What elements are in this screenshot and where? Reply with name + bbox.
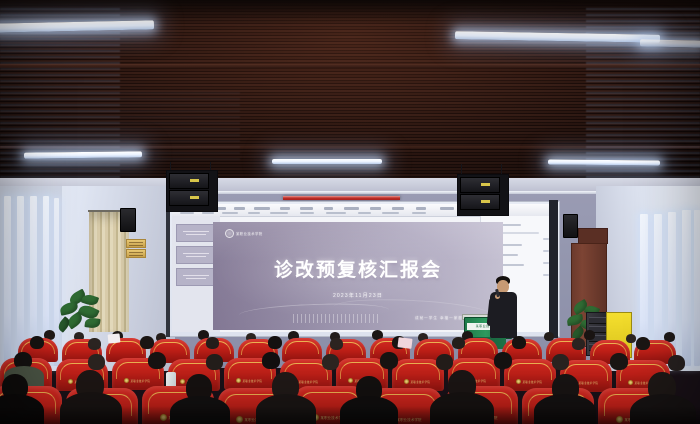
chair-badge-icon — [180, 379, 185, 384]
chair-badge-icon — [236, 378, 241, 383]
audience-head — [206, 354, 223, 370]
ribbon-icon[interactable] — [280, 207, 290, 210]
line-array-speaker — [460, 194, 500, 210]
wall-sign-fire — [126, 249, 146, 258]
audience-head — [30, 336, 44, 349]
chair-emblem: 某职业技术学院 — [516, 379, 542, 384]
chair-trim — [461, 341, 495, 354]
slide-date: 2023年11月23日 — [213, 292, 503, 299]
chair-trim — [109, 341, 143, 354]
audience-head — [668, 355, 685, 371]
chair-emblem-label: 某职业技术学院 — [131, 379, 151, 383]
ribbon-label — [382, 212, 399, 214]
ceiling-light-tube — [24, 151, 142, 158]
slide-thumbnail-1[interactable] — [176, 224, 216, 242]
audience-head — [452, 337, 465, 349]
line-array-speaker — [169, 190, 209, 206]
chair-emblem-label: 某职业技术学院 — [579, 381, 599, 385]
ribbon-label — [300, 212, 314, 214]
speaker-label — [481, 200, 490, 203]
audience-head — [88, 354, 105, 370]
ribbon-label — [202, 212, 214, 214]
audience-head — [494, 352, 512, 369]
banner-highlight — [283, 196, 400, 198]
door-transom — [578, 228, 608, 244]
handout-paper — [397, 337, 412, 349]
chair-emblem-label: 某职业技术学院 — [523, 380, 543, 384]
ribbon-icon[interactable] — [254, 207, 270, 210]
audience-head — [572, 338, 585, 350]
ribbon-label — [180, 212, 194, 214]
wall-sign-exit — [126, 239, 146, 248]
chair-trim — [285, 341, 319, 354]
thumbnail-text-line — [186, 234, 206, 235]
audience-head — [436, 354, 453, 370]
ribbon-label — [412, 212, 426, 214]
speaker-label — [481, 183, 490, 186]
thumbnail-text-line — [186, 256, 206, 257]
chair-emblem: 某职业技术学院 — [124, 378, 150, 383]
wall-speaker-left — [120, 208, 136, 232]
slide-slogan: 成就一学生 幸福一家庭 — [415, 316, 463, 321]
audience-head — [636, 337, 650, 350]
audience-head — [88, 338, 101, 350]
ribbon-icon[interactable] — [416, 207, 426, 210]
chair-emblem: 某职业技术学院 — [404, 379, 430, 384]
line-array-speaker — [460, 177, 500, 193]
conference-hall-scene: 某职业技术学院 诊改预复核汇报会 2023年11月23日 成就一学生 幸福一家庭 — [0, 0, 700, 424]
audience-head — [322, 354, 339, 370]
slatted-ceiling — [0, 0, 700, 186]
ribbon-icon[interactable] — [370, 207, 381, 210]
handout-paper — [108, 333, 121, 343]
audience-head — [380, 352, 398, 369]
thumbnail-text-line — [186, 278, 206, 279]
thumbnail-text-line — [183, 231, 209, 232]
line-array-speaker — [169, 173, 209, 189]
chair-emblem: 某职业技术学院 — [236, 378, 262, 383]
chair-badge-icon — [348, 378, 353, 383]
audience-head — [552, 354, 569, 370]
slide-thumbnail-2[interactable] — [176, 246, 216, 264]
rack-drawer — [589, 317, 607, 324]
slide-org-name: 某职业技术学院 — [236, 231, 263, 236]
audience-seating: 某职业技术学院 某职业技术学院 某职业技术学院 某职业技术学院 — [0, 330, 700, 424]
auditorium-chair: 某职业技术学院 — [504, 359, 556, 391]
slide-thumbnail-3[interactable] — [176, 268, 216, 286]
chair-trim — [508, 363, 552, 379]
screen-bezel-left — [166, 199, 170, 337]
thumbnail-text-line — [183, 253, 209, 254]
speaker-label — [190, 196, 199, 199]
audience-head — [330, 338, 343, 350]
plant-leaf — [84, 317, 100, 329]
projected-slide: 某职业技术学院 诊改预复核汇报会 2023年11月23日 成就一学生 幸福一家庭 — [213, 222, 503, 330]
slide-decoration-hatch — [293, 314, 379, 323]
audience-head — [584, 330, 595, 340]
speaker-label — [190, 179, 199, 182]
ribbon-label — [248, 212, 260, 214]
audience-head — [610, 353, 628, 370]
slide-title: 诊改预复核汇报会 — [213, 255, 503, 282]
audience-head — [512, 336, 526, 349]
slide-org-logo: 某职业技术学院 — [225, 229, 263, 238]
chair-trim — [417, 342, 451, 355]
audience-head — [206, 337, 219, 349]
ribbon-icon[interactable] — [234, 207, 245, 210]
chair-emblem-label: 某职业技术学院 — [243, 379, 263, 383]
institution-seal-icon — [225, 229, 234, 238]
audience-head — [148, 352, 166, 369]
ceiling-light-tube — [272, 159, 382, 164]
chair-badge-icon — [404, 379, 409, 384]
audience-head — [626, 334, 636, 343]
ribbon-icon[interactable] — [300, 207, 313, 210]
ribbon-label — [358, 212, 371, 214]
ceiling-light-tube — [548, 160, 660, 166]
ribbon-icon[interactable] — [324, 207, 333, 210]
ribbon-label — [326, 212, 346, 214]
chair-badge-icon — [516, 379, 521, 384]
chair-badge-icon — [628, 380, 633, 385]
ribbon-label — [222, 212, 238, 214]
chair-emblem-label: 某职业技术学院 — [299, 380, 319, 384]
ceiling-light-tube — [640, 39, 700, 47]
chair-trim — [396, 363, 440, 379]
ribbon-label — [270, 212, 288, 214]
screen-bezel-right — [549, 200, 558, 338]
chair-badge-icon — [68, 379, 73, 384]
thumbnail-text-line — [183, 275, 209, 276]
ribbon-icon[interactable] — [440, 207, 454, 210]
audience-head — [268, 336, 282, 349]
chair-emblem-label: 某职业技术学院 — [411, 380, 431, 384]
chair-badge-icon — [124, 378, 129, 383]
foreground-shadow — [0, 406, 700, 424]
wall-speaker-right — [563, 214, 578, 238]
ribbon-icon[interactable] — [344, 207, 359, 210]
audience-head — [262, 352, 280, 369]
audience-head — [140, 336, 154, 349]
ribbon-icon[interactable] — [392, 207, 404, 210]
